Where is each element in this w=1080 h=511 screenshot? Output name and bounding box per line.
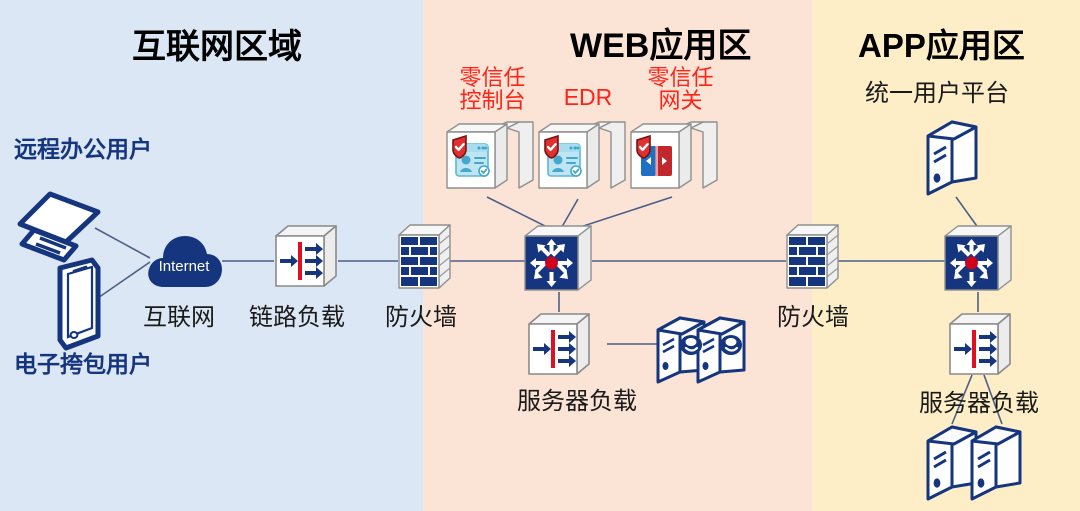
edr-appliance-icon xyxy=(535,122,627,200)
label-zero-trust-console-line2: 控制台 xyxy=(440,89,545,112)
firewall-app-icon xyxy=(784,222,840,302)
label-zero-trust-gateway-line1: 零信任 xyxy=(628,66,733,89)
server-load-balancer-app-icon xyxy=(944,310,1016,382)
label-internet: 互联网 xyxy=(143,297,215,332)
cloud-label: Internet xyxy=(159,258,211,275)
label-link-load-balancer: 链路负载 xyxy=(249,297,345,332)
label-zero-trust-gateway-line2: 网关 xyxy=(628,89,733,112)
label-wallet-users: 电子挎包用户 xyxy=(14,345,152,379)
label-zero-trust-gateway: 零信任 网关 xyxy=(628,66,733,112)
unified-user-platform-server-icon xyxy=(920,110,982,202)
zone-title-internet: 互联网区域 xyxy=(132,19,302,68)
network-architecture-diagram: 互联网区域 WEB应用区 APP应用区 Inter xyxy=(0,0,1080,511)
zone-title-app: APP应用区 xyxy=(858,19,1025,67)
firewall-web-icon xyxy=(396,222,452,302)
label-zero-trust-console: 零信任 控制台 xyxy=(440,66,545,112)
web-servers-icon xyxy=(650,300,748,390)
label-remote-users: 远程办公用户 xyxy=(14,130,152,164)
core-switch-web-icon xyxy=(521,222,595,302)
app-servers-icon xyxy=(920,415,1038,511)
core-switch-app-icon xyxy=(941,222,1015,302)
label-firewall-app: 防火墙 xyxy=(777,297,849,332)
server-load-balancer-web-icon xyxy=(523,310,595,382)
link-load-balancer-icon xyxy=(272,222,340,302)
zero-trust-gateway-icon xyxy=(627,122,719,200)
zero-trust-console-icon xyxy=(443,122,535,200)
label-edr: EDR xyxy=(553,85,623,109)
label-zero-trust-console-line1: 零信任 xyxy=(440,66,545,89)
label-unified-user-platform: 统一用户平台 xyxy=(865,73,1009,108)
label-firewall-web: 防火墙 xyxy=(385,297,457,332)
smartphone-icon xyxy=(48,258,108,353)
label-server-load-balancer-app: 服务器负载 xyxy=(919,383,1039,418)
zone-title-web: WEB应用区 xyxy=(570,18,751,67)
label-server-load-balancer-web: 服务器负载 xyxy=(517,381,637,416)
internet-cloud-icon: Internet xyxy=(144,225,224,297)
